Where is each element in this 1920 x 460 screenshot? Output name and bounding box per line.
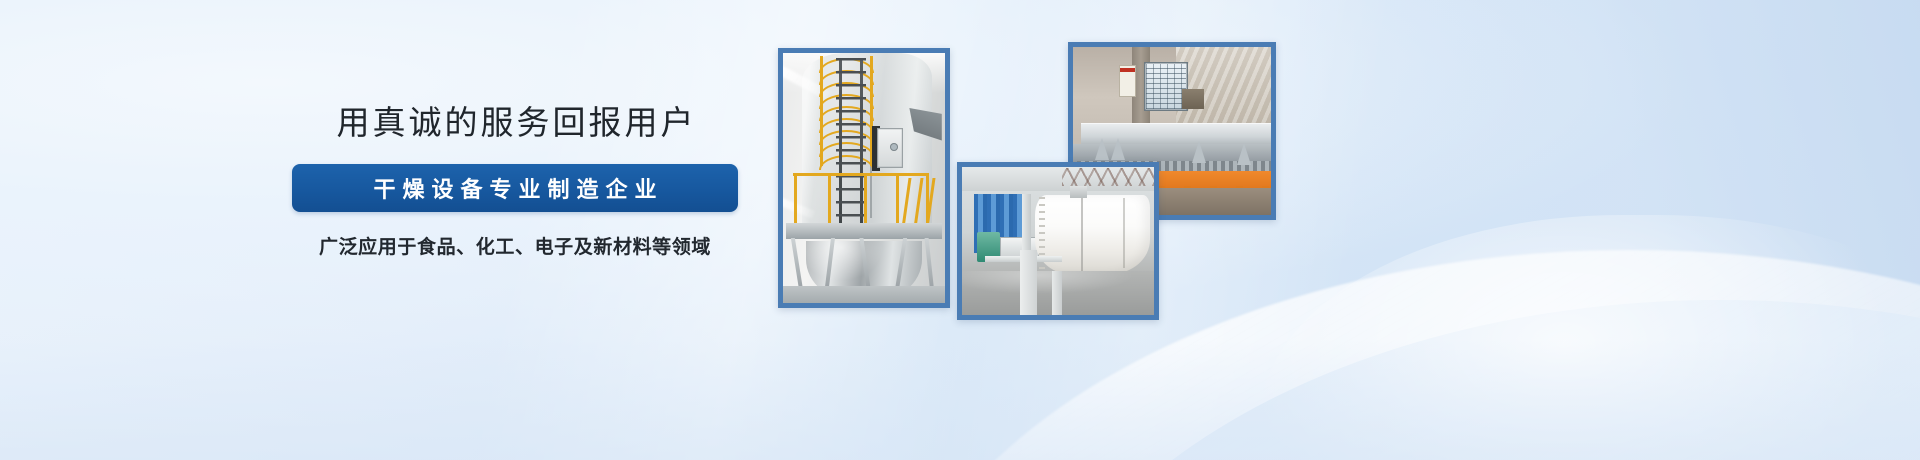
banner-copy: 用真诚的服务回报用户 干燥设备专业制造企业 广泛应用于食品、化工、电子及新材料等…	[292, 104, 738, 259]
control-box	[1182, 89, 1204, 109]
background-bottom-tint	[0, 340, 1920, 460]
guardrail-top-bar	[793, 173, 929, 176]
spray-tower-scene	[783, 53, 945, 303]
banner-subtitle: 广泛应用于食品、化工、电子及新材料等领域	[292, 232, 738, 259]
banner-badge: 干燥设备专业制造企业	[292, 164, 738, 212]
plant-floor	[783, 286, 945, 304]
guardrail-post	[896, 173, 899, 226]
exhaust-cone	[1237, 143, 1251, 165]
inlet-nozzle	[1070, 186, 1087, 198]
sight-glass	[890, 143, 898, 151]
exhaust-cone	[1111, 138, 1125, 160]
roof-truss	[1062, 168, 1154, 186]
ribbon-mixer-scene	[962, 167, 1154, 315]
wall-notice-board	[1119, 65, 1137, 97]
promo-banner: 用真诚的服务回报用户 干燥设备专业制造企业 广泛应用于食品、化工、电子及新材料等…	[0, 0, 1920, 460]
banner-badge-label: 干燥设备专业制造企业	[366, 172, 663, 204]
access-ladder	[836, 58, 865, 233]
tank-seam	[1081, 197, 1083, 271]
photo-spray-dryer-tower	[778, 48, 950, 308]
platform-stair	[903, 178, 939, 228]
photo-ribbon-mixer	[957, 162, 1159, 320]
ladder-rungs	[836, 58, 865, 233]
mixer-tank-shell	[1035, 195, 1150, 273]
exhaust-cone	[1095, 138, 1109, 160]
guardrail-post	[794, 173, 797, 226]
guardrail-post	[864, 173, 867, 226]
cage-stile	[820, 56, 823, 166]
white-pillar	[1020, 250, 1037, 315]
white-pillar	[1052, 271, 1062, 315]
guardrail-post	[828, 173, 831, 226]
exhaust-cone	[1192, 141, 1206, 163]
service-platform	[786, 223, 942, 239]
tank-seam	[1123, 198, 1125, 268]
banner-headline: 用真诚的服务回报用户	[292, 104, 738, 142]
